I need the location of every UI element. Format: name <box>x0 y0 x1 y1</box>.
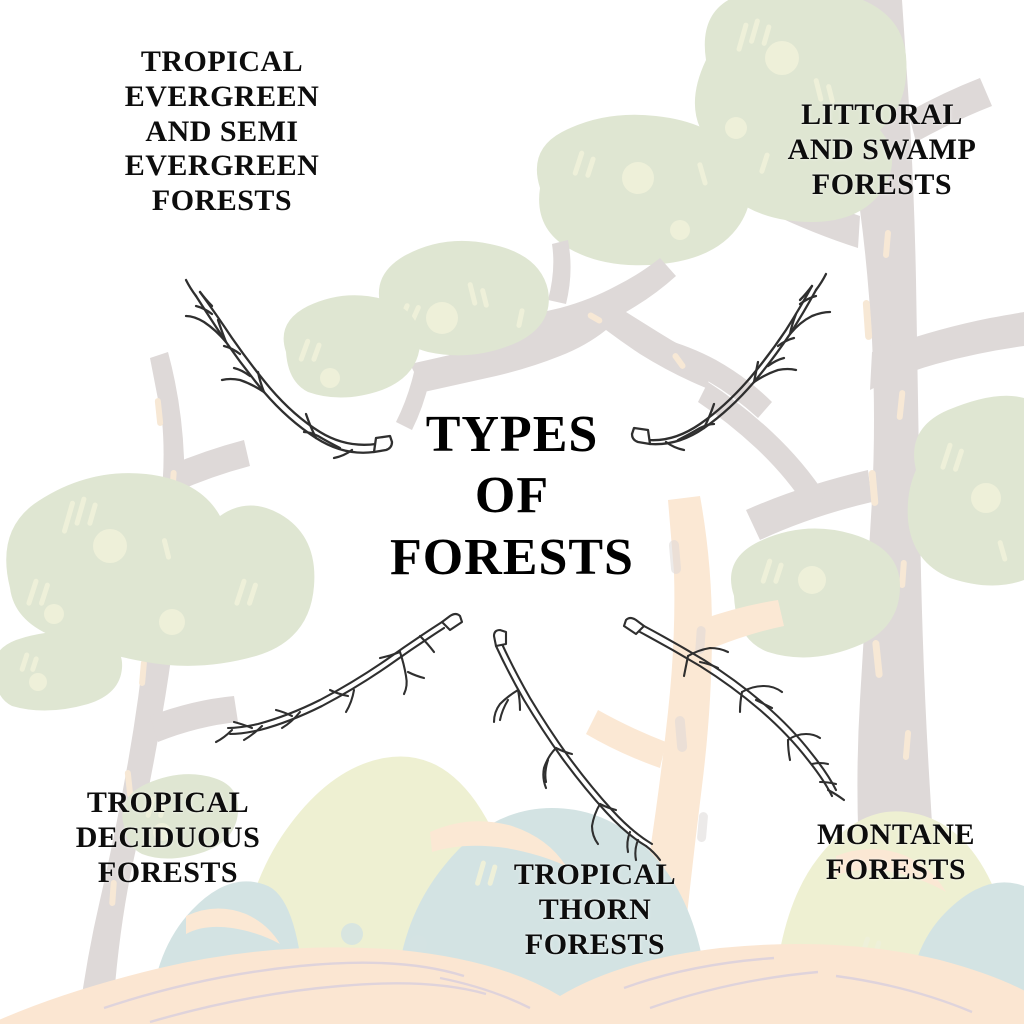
foliage-cluster-right-upper <box>537 115 750 266</box>
label-montane-forests: MONTANE FORESTS <box>772 818 1020 888</box>
label-tropical-thorn-forests: TROPICAL THORN FORESTS <box>472 858 718 962</box>
label-littoral-and-swamp-forests: LITTORAL AND SWAMP FORESTS <box>740 98 1024 202</box>
page-title: TYPES OF FORESTS <box>330 404 694 588</box>
label-tropical-evergreen-forests: TROPICAL EVERGREEN AND SEMI EVERGREEN FO… <box>72 45 372 219</box>
poster-canvas: TYPES OF FORESTS TROPICAL EVERGREEN AND … <box>0 0 1024 1024</box>
label-tropical-deciduous-forests: TROPICAL DECIDUOUS FORESTS <box>30 786 306 890</box>
